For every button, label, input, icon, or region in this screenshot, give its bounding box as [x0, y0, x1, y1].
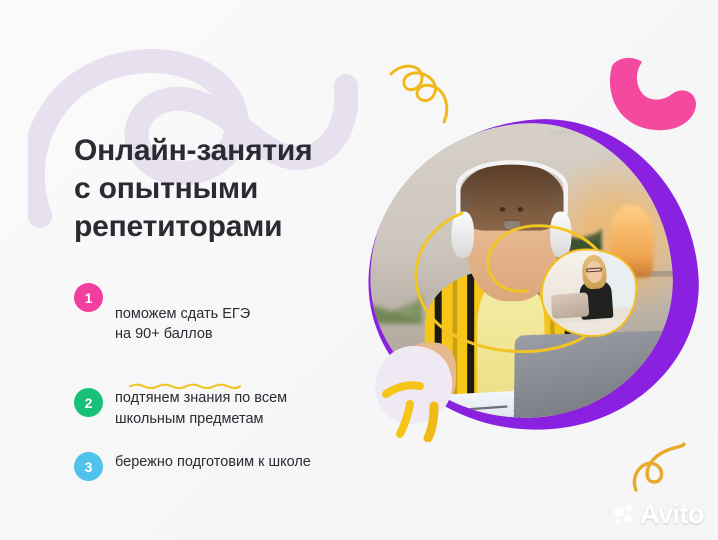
avito-label: Avito	[640, 501, 704, 528]
hero-photo	[368, 120, 698, 430]
list-item: 2 подтянем знания по всем школьным предм…	[74, 387, 394, 429]
benefits-list: 1 поможем сдать ЕГЭ на 90+ баллов 2 подт…	[74, 282, 394, 481]
photo-blob-clip	[360, 114, 682, 428]
benefit-badge-1: 1	[74, 283, 103, 312]
headline: Онлайн-занятия с опытными репетиторами	[74, 132, 384, 246]
headphones-band-icon	[456, 160, 568, 214]
benefit-badge-3: 3	[74, 452, 103, 481]
headphone-cup-left-icon	[452, 211, 474, 257]
tutor-inset-bubble	[538, 245, 641, 340]
benefit-text-3: бережно подготовим к школе	[115, 451, 311, 473]
list-item: 3 бережно подготовим к школе	[74, 451, 394, 481]
tutor-photo	[538, 245, 641, 340]
benefit-label-1: поможем сдать ЕГЭ на 90+ баллов	[115, 306, 250, 343]
avito-logo-icon	[613, 504, 635, 526]
curly-squiggle-top-icon	[388, 60, 464, 126]
benefit-text-1: поможем сдать ЕГЭ на 90+ баллов	[115, 282, 250, 365]
advertisement-banner: Онлайн-занятия с опытными репетиторами 1…	[0, 0, 718, 540]
tutor-laptop-icon	[550, 293, 589, 319]
benefit-badge-2: 2	[74, 388, 103, 417]
wavy-underline-icon	[129, 361, 241, 368]
avito-watermark: Avito	[613, 501, 704, 528]
curly-squiggle-bottom-icon	[628, 442, 690, 500]
list-item: 1 поможем сдать ЕГЭ на 90+ баллов	[74, 282, 394, 365]
benefit-text-2: подтянем знания по всем школьным предмет…	[115, 387, 287, 429]
